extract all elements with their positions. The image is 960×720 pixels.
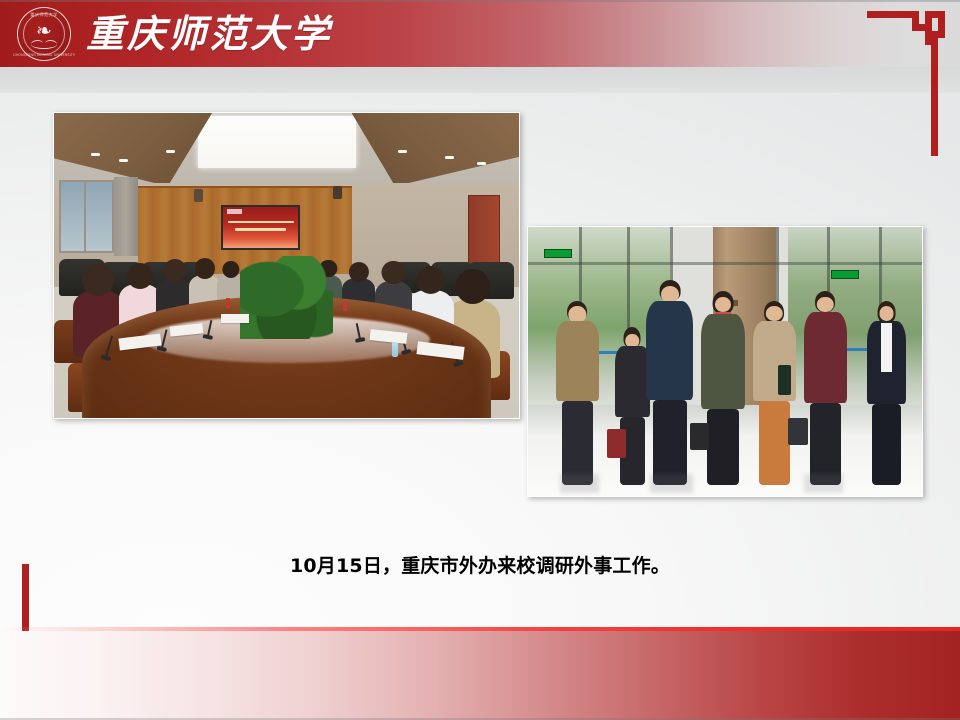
ceiling-skylight (198, 116, 356, 168)
visitor (615, 324, 650, 485)
presentation-screen (221, 205, 300, 251)
screen-title-line-2 (235, 228, 286, 231)
meeting-room-scene (54, 113, 519, 418)
exit-sign-right-icon (831, 270, 859, 279)
visitor (804, 289, 847, 485)
lobby-scene (528, 227, 922, 496)
slide-caption: 10月15日，重庆市外办来校调研外事工作。 (0, 551, 960, 578)
visitor (556, 297, 599, 485)
university-name-title: 重庆师范大学 (86, 6, 332, 62)
header-hairline (0, 0, 960, 2)
seal-arc-top-text: 重庆师范大学 (30, 12, 58, 18)
seal-emblem-icon: ❧ (34, 20, 54, 42)
exit-sign-left-icon (544, 249, 572, 258)
visitor (753, 297, 796, 485)
window-left (59, 180, 115, 253)
screen-logo (227, 209, 242, 214)
visitor (867, 297, 906, 485)
photo-meeting (53, 112, 520, 419)
slide-canvas: 重庆师范大学 ❧ CHONGQING NORMAL UNIVERSITY 重庆师… (0, 0, 960, 720)
visitor (701, 289, 744, 485)
seal-arc-bottom-text: CHONGQING NORMAL UNIVERSITY (13, 53, 75, 57)
table-centerpiece-plant (240, 256, 333, 338)
corner-motif-top-right-icon (867, 9, 945, 159)
photo-lobby (527, 226, 923, 497)
visitor (646, 278, 693, 485)
university-seal-icon: 重庆师范大学 ❧ CHONGQING NORMAL UNIVERSITY (17, 7, 71, 61)
header-underbar (0, 67, 960, 93)
curtain (114, 177, 137, 256)
footer-band (0, 631, 960, 720)
screen-title-line-1 (228, 221, 294, 224)
seal-book-icon (31, 40, 57, 49)
